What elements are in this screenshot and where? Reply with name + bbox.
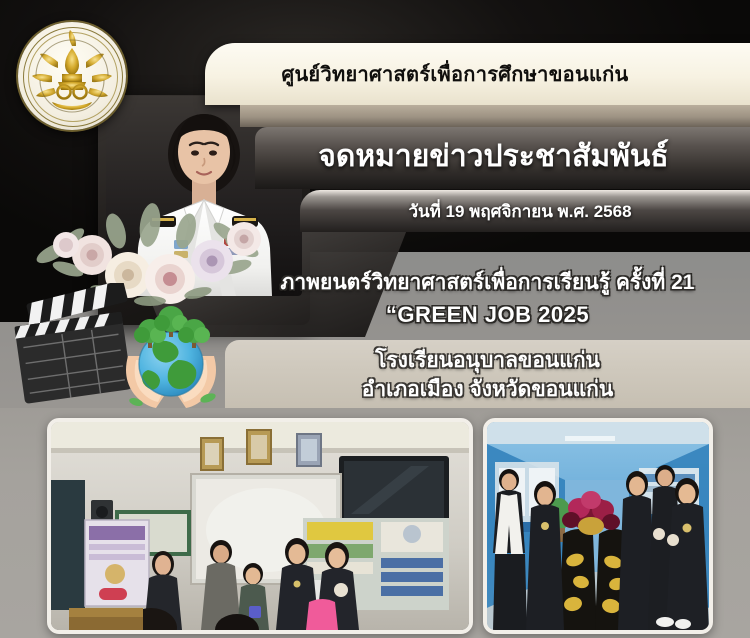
main-title-banner: จดหมายข่าวประชาสัมพันธ์ [255, 127, 750, 189]
group-corridor-photo[interactable] [483, 418, 713, 634]
newsletter-poster: ศูนย์วิทยาศาสตร์เพื่อการศึกษาขอนแก่น จดห… [0, 0, 750, 638]
organization-header-banner: ศูนย์วิทยาศาสตร์เพื่อการศึกษาขอนแก่น [205, 43, 750, 105]
ministry-seal-icon [18, 22, 126, 130]
classroom-presentation-photo[interactable] [47, 418, 473, 634]
header-taupe-bar [240, 105, 750, 127]
event-title-line-2: “GREEN JOB 2025 [225, 300, 750, 330]
page-title: จดหมายข่าวประชาสัมพันธ์ [255, 133, 732, 180]
venue-block: โรงเรียนอนุบาลขอนแก่น อำเภอเมือง จังหวัด… [225, 341, 750, 409]
hands-holding-green-earth-icon [112, 298, 230, 410]
event-title-line-1: ภาพยนตร์วิทยาศาสตร์เพื่อการเรียนรู้ ครั้… [225, 266, 750, 300]
venue-line-2: อำเภอเมือง จังหวัดขอนแก่น [362, 375, 614, 404]
event-title-block: ภาพยนตร์วิทยาศาสตร์เพื่อการเรียนรู้ ครั้… [225, 266, 750, 338]
date-banner: วันที่ 19 พฤศจิกายน พ.ศ. 2568 [300, 190, 750, 232]
venue-line-1: โรงเรียนอนุบาลขอนแก่น [375, 346, 600, 375]
date-text: วันที่ 19 พฤศจิกายน พ.ศ. 2568 [300, 198, 740, 225]
organization-header-text: ศูนย์วิทยาศาสตร์เพื่อการศึกษาขอนแก่น [281, 58, 628, 90]
